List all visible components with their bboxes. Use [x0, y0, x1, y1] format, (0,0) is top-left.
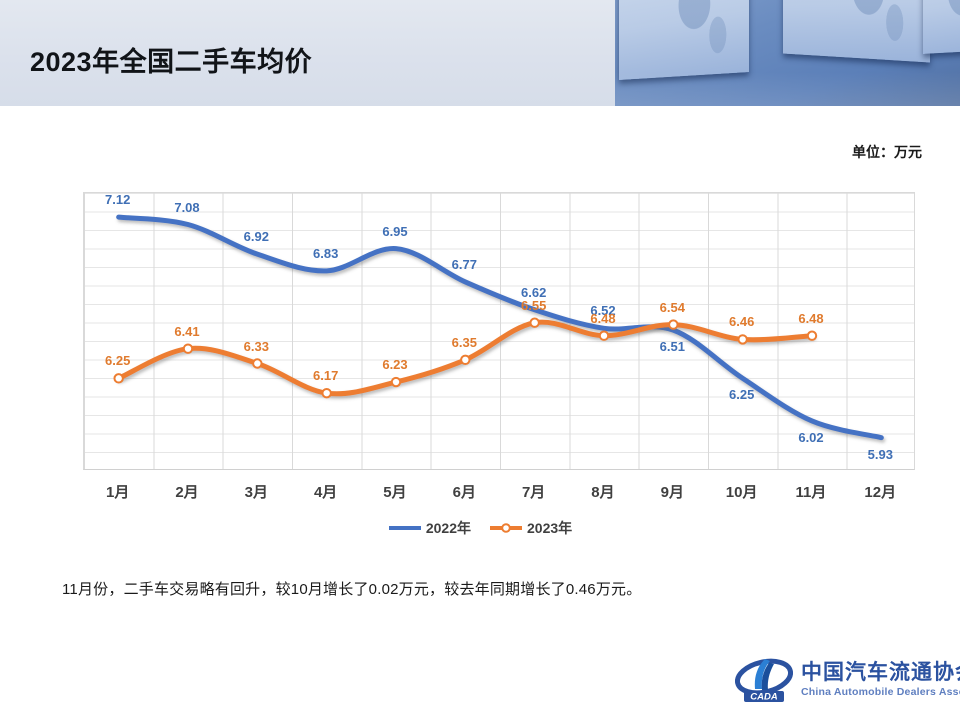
data-label: 6.25	[729, 387, 754, 402]
data-label: 6.23	[382, 357, 407, 372]
data-label: 6.92	[244, 229, 269, 244]
world-map-texture	[619, 0, 749, 80]
series-marker-2023年	[253, 359, 261, 367]
legend-label: 2023年	[527, 518, 572, 538]
chart-legend: 2022年2023年	[0, 518, 960, 538]
world-map-texture	[783, 0, 930, 62]
x-axis-tick-8: 8月	[568, 480, 637, 508]
page-title: 2023年全国二手车均价	[30, 40, 312, 79]
data-label: 6.54	[660, 300, 685, 315]
header-band: 2023年全国二手车均价	[0, 0, 960, 106]
x-axis-tick-3: 3月	[222, 480, 291, 508]
logo-name-cn: 中国汽车流通协会	[801, 662, 960, 684]
organization-logo: CADA 中国汽车流通协会 China Automobile Dealers A…	[735, 652, 947, 708]
logo-name-en: China Automobile Dealers Association	[801, 687, 960, 698]
series-line-2022年	[119, 217, 882, 438]
data-label: 6.33	[244, 339, 269, 354]
series-marker-2023年	[738, 335, 746, 343]
cada-emblem-icon: CADA	[735, 655, 793, 705]
x-axis-labels: 1月2月3月4月5月6月7月8月9月10月11月12月	[83, 480, 915, 508]
chart-plot-area	[83, 192, 915, 470]
data-label: 6.25	[105, 353, 130, 368]
data-label: 6.95	[382, 224, 407, 239]
line-chart: 7.127.086.926.836.956.776.626.526.516.25…	[0, 180, 960, 550]
deco-cube-1	[619, 0, 749, 80]
data-label: 6.02	[798, 430, 823, 445]
legend-swatch	[489, 522, 523, 534]
data-label: 7.12	[105, 192, 130, 207]
deco-cube-2	[783, 0, 930, 62]
series-marker-2023年	[808, 332, 816, 340]
data-label: 6.17	[313, 368, 338, 383]
summary-caption: 11月份，二手车交易略有回升，较10月增长了0.02万元，较去年同期增长了0.4…	[62, 578, 641, 599]
series-marker-2023年	[600, 332, 608, 340]
x-axis-tick-11: 11月	[776, 480, 845, 508]
data-label: 6.55	[521, 298, 546, 313]
series-marker-2023年	[669, 320, 677, 328]
deco-floor-gloss	[615, 72, 960, 106]
data-label: 6.48	[590, 311, 615, 326]
legend-swatch	[388, 522, 422, 534]
x-axis-tick-4: 4月	[291, 480, 360, 508]
series-marker-2023年	[392, 378, 400, 386]
logo-text: 中国汽车流通协会 China Automobile Dealers Associ…	[801, 662, 960, 697]
data-label: 6.51	[660, 339, 685, 354]
data-label: 6.41	[174, 324, 199, 339]
data-label: 6.46	[729, 314, 754, 329]
chart-series-svg	[84, 193, 916, 471]
x-axis-tick-2: 2月	[152, 480, 221, 508]
legend-label: 2022年	[426, 518, 471, 538]
data-label: 5.93	[868, 447, 893, 462]
deco-cube-3	[923, 0, 960, 54]
series-marker-2023年	[114, 374, 122, 382]
x-axis-tick-7: 7月	[499, 480, 568, 508]
data-label: 6.35	[452, 335, 477, 350]
x-axis-tick-12: 12月	[846, 480, 915, 508]
x-axis-tick-5: 5月	[360, 480, 429, 508]
header-decoration-image	[615, 0, 960, 106]
legend-item-2023年[interactable]: 2023年	[489, 518, 572, 538]
series-marker-2023年	[530, 319, 538, 327]
data-label: 6.48	[798, 311, 823, 326]
world-map-texture	[923, 0, 960, 54]
x-axis-tick-6: 6月	[430, 480, 499, 508]
data-label: 6.77	[452, 257, 477, 272]
unit-label: 单位：万元	[852, 142, 922, 162]
series-marker-2023年	[461, 356, 469, 364]
legend-item-2022年[interactable]: 2022年	[388, 518, 471, 538]
series-marker-2023年	[322, 389, 330, 397]
data-label: 6.83	[313, 246, 338, 261]
x-axis-tick-1: 1月	[83, 480, 152, 508]
x-axis-tick-10: 10月	[707, 480, 776, 508]
data-label: 7.08	[174, 200, 199, 215]
series-marker-2023年	[184, 344, 192, 352]
svg-text:CADA: CADA	[750, 692, 778, 703]
x-axis-tick-9: 9月	[638, 480, 707, 508]
